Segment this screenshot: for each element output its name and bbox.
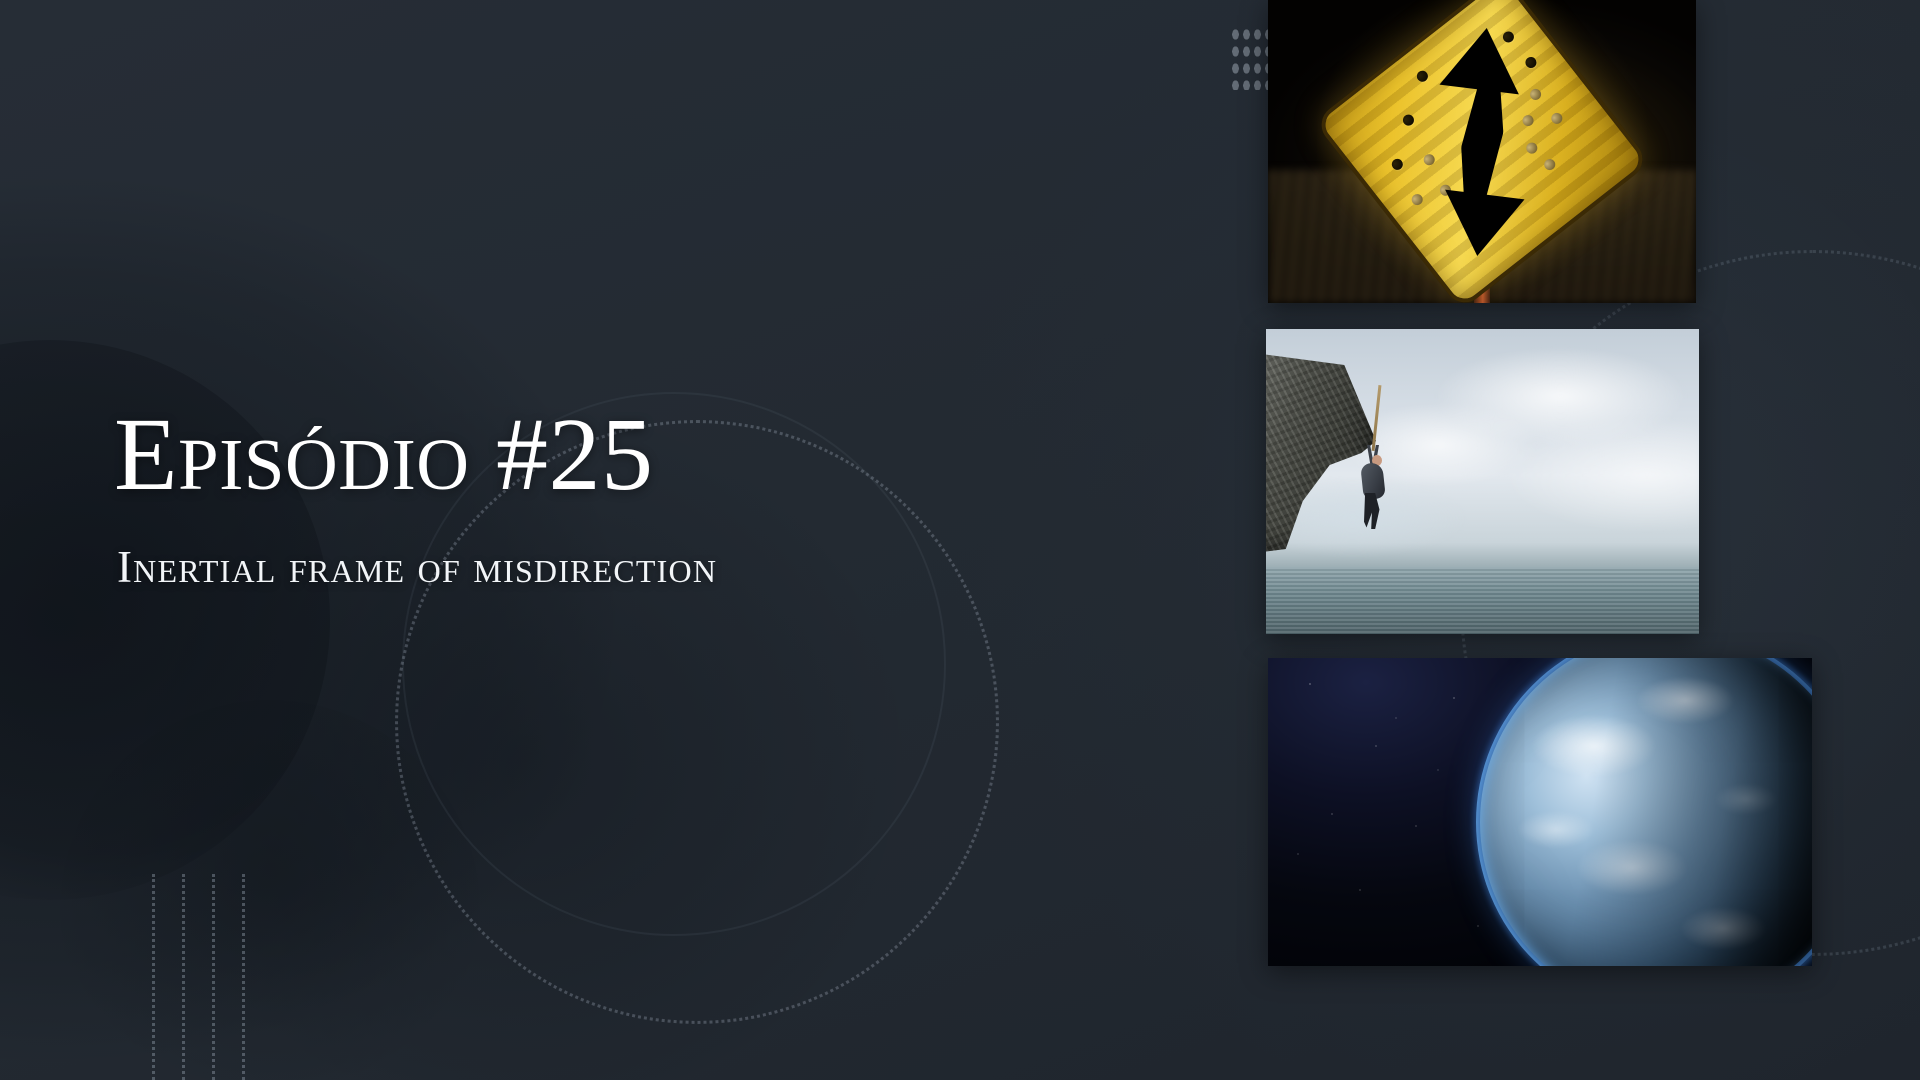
slide-text-block: Episódio #25 Inertial frame of misdirect… bbox=[114, 400, 1094, 593]
road-sign-rivet bbox=[1528, 87, 1543, 102]
road-sign-rivet bbox=[1401, 113, 1416, 128]
road-sign-rivet bbox=[1410, 192, 1425, 207]
arrow-head-up-icon bbox=[1439, 24, 1526, 95]
road-sign-image bbox=[1268, 0, 1696, 303]
dashed-column-1 bbox=[152, 874, 155, 1080]
presentation-slide: Episódio #25 Inertial frame of misdirect… bbox=[0, 0, 1920, 1080]
arrow-head-down-icon bbox=[1438, 190, 1525, 261]
slide-title: Episódio #25 bbox=[114, 400, 1094, 509]
hanging-businessman bbox=[1359, 445, 1387, 531]
cliff-sea bbox=[1266, 567, 1699, 634]
cliffhanger-image bbox=[1266, 329, 1699, 634]
road-sign-rivet bbox=[1520, 113, 1535, 128]
dashed-column-2 bbox=[182, 874, 185, 1080]
road-sign-rivet bbox=[1422, 152, 1437, 167]
background-soft-circle-left-small bbox=[60, 700, 480, 1080]
road-sign-rivet bbox=[1542, 157, 1557, 172]
road-sign-rivet bbox=[1549, 111, 1564, 126]
road-sign-rivet bbox=[1524, 141, 1539, 156]
road-sign-rivet bbox=[1523, 55, 1538, 70]
dashed-column-4 bbox=[242, 874, 245, 1080]
earth-globe bbox=[1480, 658, 1812, 966]
businessman-legs bbox=[1364, 493, 1382, 529]
slide-subtitle: Inertial frame of misdirection bbox=[117, 543, 1094, 593]
dashed-column-3 bbox=[212, 874, 215, 1080]
earth-from-space-image bbox=[1268, 658, 1812, 966]
road-sign-rivet bbox=[1390, 157, 1405, 172]
road-sign-rivet bbox=[1415, 69, 1430, 84]
